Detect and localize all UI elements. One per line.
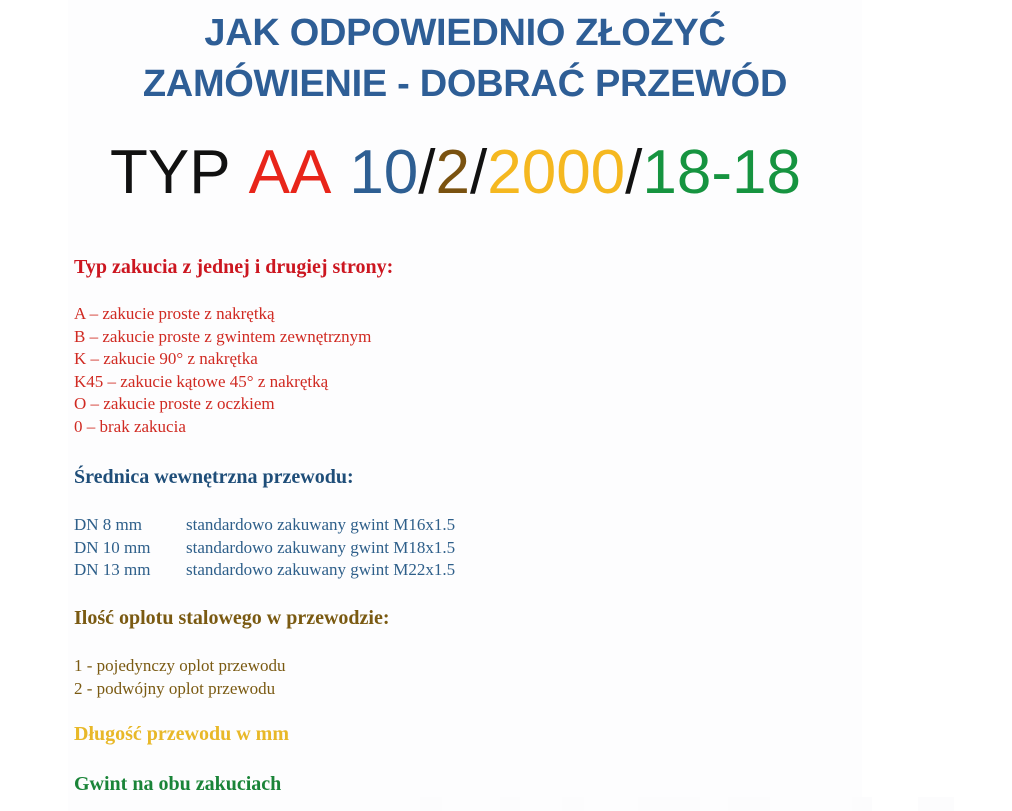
dn-label: DN 10 mm [74,537,186,560]
code-length: 2000 [487,138,625,207]
code-prefix: TYP [110,138,231,207]
list-item: O – zakucie proste z oczkiem [74,393,393,416]
page-title-line-1: JAK ODPOWIEDNIO ZŁOŻYĆ [0,8,930,59]
list-item: A – zakucie proste z nakrętką [74,303,393,326]
list-item: K – zakucie 90° z nakrętka [74,348,393,371]
section-inner-diameter-heading: Średnica wewnętrzna przewodu: [74,465,455,489]
code-separator-3: / [625,138,642,207]
page-title: JAK ODPOWIEDNIO ZŁOŻYĆ ZAMÓWIENIE - DOBR… [0,8,930,110]
dn-label: DN 8 mm [74,514,186,537]
code-fitting-type: AA [249,138,332,207]
section-length: Długość przewodu w mm [74,722,289,746]
list-item: B – zakucie proste z gwintem zewnętrznym [74,326,393,349]
section-length-heading: Długość przewodu w mm [74,722,289,746]
slide-content: JAK ODPOWIEDNIO ZŁOŻYĆ ZAMÓWIENIE - DOBR… [0,0,1012,811]
code-thread: 18-18 [642,138,801,207]
list-item: DN 8 mmstandardowo zakuwany gwint M16x1.… [74,514,455,537]
list-item: 0 – brak zakucia [74,416,393,439]
dn-note: standardowo zakuwany gwint M22x1.5 [186,560,455,579]
product-code-line: TYPAA10/2/2000/18-18 [110,138,801,208]
bottom-cropped-shapes [0,793,1012,811]
section-braid-count-list: 1 - pojedynczy oplot przewodu 2 - podwój… [74,655,390,700]
section-fitting-type: Typ zakucia z jednej i drugiej strony: A… [74,255,393,439]
code-braid-count: 2 [436,138,470,207]
section-fitting-type-heading: Typ zakucia z jednej i drugiej strony: [74,255,393,279]
section-inner-diameter: Średnica wewnętrzna przewodu: DN 8 mmsta… [74,465,455,582]
page-title-line-2: ZAMÓWIENIE - DOBRAĆ PRZEWÓD [0,59,930,110]
section-inner-diameter-list: DN 8 mmstandardowo zakuwany gwint M16x1.… [74,514,455,582]
list-item: K45 – zakucie kątowe 45° z nakrętką [74,371,393,394]
code-separator-2: / [470,138,487,207]
dn-note: standardowo zakuwany gwint M18x1.5 [186,538,455,557]
list-item: 1 - pojedynczy oplot przewodu [74,655,390,678]
section-braid-count-heading: Ilość oplotu stalowego w przewodzie: [74,606,390,630]
dn-label: DN 13 mm [74,559,186,582]
code-separator-1: / [418,138,435,207]
code-inner-diameter: 10 [349,138,418,207]
section-fitting-type-list: A – zakucie proste z nakrętką B – zakuci… [74,303,393,439]
dn-note: standardowo zakuwany gwint M16x1.5 [186,515,455,534]
list-item: 2 - podwójny oplot przewodu [74,678,390,701]
list-item: DN 10 mmstandardowo zakuwany gwint M18x1… [74,537,455,560]
section-braid-count: Ilość oplotu stalowego w przewodzie: 1 -… [74,606,390,700]
list-item: DN 13 mmstandardowo zakuwany gwint M22x1… [74,559,455,582]
